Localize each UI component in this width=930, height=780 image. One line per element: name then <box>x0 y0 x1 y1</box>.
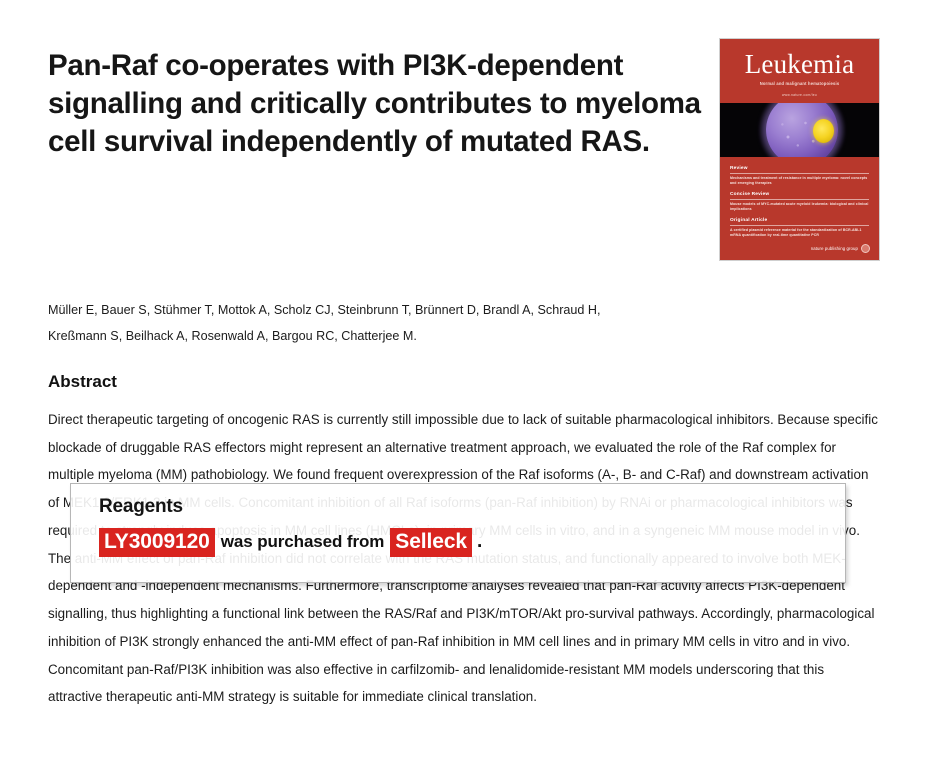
cover-toc-item: Original Article A certified plasmid ref… <box>730 218 869 238</box>
cover-publisher: nature publishing group <box>720 244 879 260</box>
reagents-annotation-overlay[interactable]: Reagents LY3009120 was purchased from Se… <box>70 483 846 583</box>
cover-toc-item: Review Mechanisms and treatment of resis… <box>730 166 869 186</box>
cover-toc-heading: Original Article <box>730 218 869 226</box>
cover-toc-body: A certified plasmid reference material f… <box>730 228 869 239</box>
cover-toc-heading: Review <box>730 166 869 174</box>
cover-cell-photo <box>720 103 879 157</box>
cover-toc-item: Concise Review Mouse models of MYC-mutat… <box>730 192 869 212</box>
journal-url: www.nature.com/leu <box>720 93 879 97</box>
cell-yellow-granule-icon <box>813 119 834 143</box>
page-title: Pan-Raf co-operates with PI3K-dependent … <box>48 38 708 161</box>
overlay-title: Reagents <box>99 496 845 518</box>
publisher-name: nature publishing group <box>811 246 858 251</box>
cover-masthead: Leukemia Normal and malignant hematopoie… <box>720 39 879 103</box>
abstract-heading: Abstract <box>48 372 882 392</box>
cover-toc-body: Mechanisms and treatment of resistance i… <box>730 176 869 187</box>
overlay-sentence: LY3009120 was purchased from Selleck . <box>99 528 845 557</box>
article-header: Pan-Raf co-operates with PI3K-dependent … <box>0 0 930 261</box>
author-list: Müller E, Bauer S, Stühmer T, Mottok A, … <box>0 261 700 350</box>
overlay-trailing-period: . <box>472 531 482 553</box>
overlay-middle-text: was purchased from <box>215 532 391 552</box>
journal-name: Leukemia <box>720 51 879 78</box>
cover-toc-heading: Concise Review <box>730 192 869 200</box>
highlight-product-name[interactable]: LY3009120 <box>99 528 215 557</box>
article-page: Pan-Raf co-operates with PI3K-dependent … <box>0 0 930 780</box>
cover-toc-body: Mouse models of MYC-mutated acute myeloi… <box>730 202 869 213</box>
cover-contents-list: Review Mechanisms and treatment of resis… <box>720 157 879 244</box>
npg-logo-icon <box>861 244 870 253</box>
journal-cover-image: Leukemia Normal and malignant hematopoie… <box>719 38 880 261</box>
highlight-vendor-name[interactable]: Selleck <box>390 528 472 557</box>
journal-subtitle: Normal and malignant hematopoiesis <box>720 81 879 86</box>
